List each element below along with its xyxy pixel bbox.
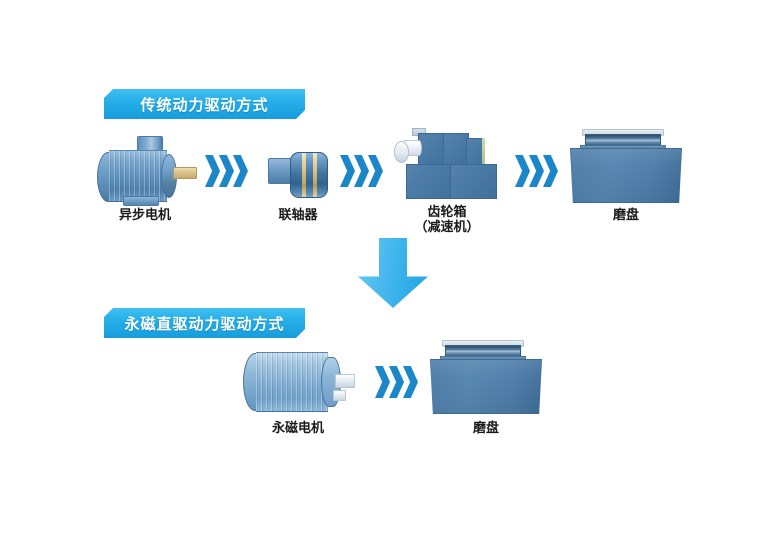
- coupling-stripe: [302, 153, 306, 197]
- motor-body: [109, 150, 167, 202]
- disc-cap-band: [445, 345, 521, 356]
- chevron-icon: [375, 366, 390, 398]
- banner-direct-drive: 永磁直驱动力驱动方式: [104, 308, 305, 338]
- component-async-motor: [95, 136, 195, 202]
- pm-motor-output-shaft: [335, 374, 355, 388]
- chevron-icon: [403, 366, 418, 398]
- gearbox-lower-block-left: [406, 164, 452, 199]
- chevron-icon: [205, 155, 220, 187]
- chevron-arrow-group-2: [340, 155, 382, 187]
- component-coupling: [268, 152, 328, 200]
- chevron-icon: [543, 155, 558, 187]
- caption-line-1: 磨盘: [428, 421, 544, 436]
- caption-line-1: 联轴器: [238, 208, 358, 223]
- disc-body-shading: [431, 360, 541, 413]
- disc-body: [430, 359, 542, 414]
- chevron-icon: [389, 366, 404, 398]
- caption-line-1: 磨盘: [568, 208, 684, 223]
- caption-line-2: （减速机）: [397, 220, 497, 235]
- chevron-arrow-group-1: [205, 155, 247, 187]
- caption-line-1: 齿轮箱: [397, 205, 497, 220]
- disc-body-shading: [571, 149, 681, 202]
- banner-traditional-drive: 传统动力驱动方式: [104, 89, 305, 119]
- caption-pm-motor: 永磁电机: [238, 421, 358, 436]
- motor-cooling-fins: [109, 151, 167, 201]
- chevron-icon: [368, 155, 383, 187]
- chevron-icon: [233, 155, 248, 187]
- coupling-stripe: [313, 153, 317, 197]
- motor-terminal-box: [137, 136, 163, 151]
- chevron-icon: [529, 155, 544, 187]
- caption-async-motor: 异步电机: [85, 208, 205, 223]
- gearbox-edge-highlight: [482, 138, 485, 164]
- component-gearbox: [392, 128, 502, 204]
- caption-line-1: 永磁电机: [238, 421, 358, 436]
- chevron-icon: [340, 155, 355, 187]
- chevron-arrow-group-3: [515, 155, 557, 187]
- pm-motor-body: [256, 352, 328, 412]
- pm-motor-terminal-port: [333, 390, 346, 401]
- caption-gearbox: 齿轮箱 （减速机）: [397, 205, 497, 235]
- gearbox-lower-block-right: [450, 164, 497, 199]
- motor-output-shaft: [173, 167, 197, 179]
- chevron-icon: [515, 155, 530, 187]
- caption-grinding-disc-bottom: 磨盘: [428, 421, 544, 436]
- caption-grinding-disc-top: 磨盘: [568, 208, 684, 223]
- transition-down-arrow-icon: [358, 238, 428, 308]
- pm-motor-cooling-fins: [256, 353, 328, 411]
- component-grinding-disc-top: [568, 129, 688, 203]
- chevron-icon: [219, 155, 234, 187]
- diagram-canvas: 传统动力驱动方式 异步电机 联轴器: [0, 0, 780, 551]
- gearbox-upper-block-a: [418, 133, 446, 166]
- disc-body: [570, 148, 682, 203]
- disc-cap-band: [585, 134, 661, 145]
- motor-base-foot: [123, 196, 159, 206]
- component-grinding-disc-bottom: [428, 340, 548, 414]
- chevron-icon: [354, 155, 369, 187]
- coupling-hub: [290, 152, 328, 198]
- component-pm-motor: [243, 350, 353, 412]
- caption-line-1: 异步电机: [85, 208, 205, 223]
- gearbox-input-flange: [394, 141, 409, 163]
- caption-coupling: 联轴器: [238, 208, 358, 223]
- chevron-arrow-group-4: [375, 366, 417, 398]
